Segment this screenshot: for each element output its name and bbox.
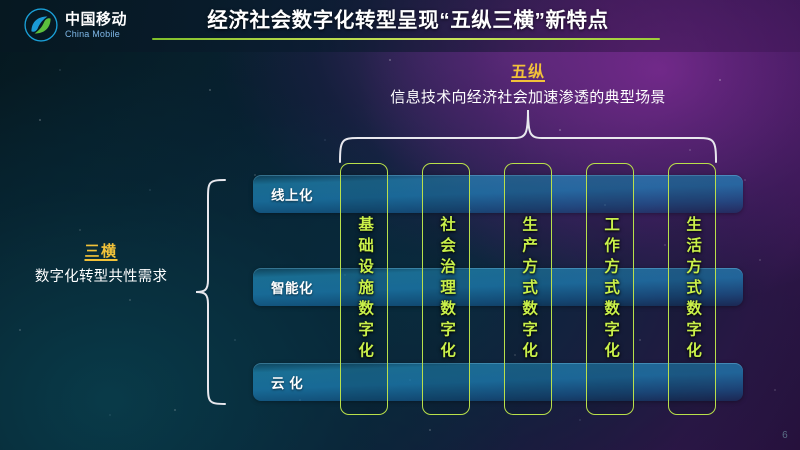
horizontal-axis-subtitle: 数字化转型共性需求 <box>10 265 192 286</box>
vertical-column-2[interactable]: 生产方式数字化 <box>504 163 552 415</box>
slide-canvas: 中国移动 China Mobile 经济社会数字化转型呈现“五纵三横”新特点 五… <box>0 0 800 450</box>
horizontal-bar-label: 云 化 <box>271 372 303 392</box>
china-mobile-logo: 中国移动 China Mobile <box>24 8 127 42</box>
top-curly-brace-icon <box>332 106 724 164</box>
logo-en-name: China Mobile <box>65 30 127 39</box>
page-title: 经济社会数字化转型呈现“五纵三横”新特点 <box>152 7 664 35</box>
page-number: 6 <box>782 430 788 441</box>
vertical-column-4[interactable]: 生活方式数字化 <box>668 163 716 415</box>
vertical-column-1[interactable]: 社会治理数字化 <box>422 163 470 415</box>
china-mobile-swirl-icon <box>24 8 58 42</box>
title-underline-rule <box>152 38 660 41</box>
horizontal-bar-label: 线上化 <box>271 184 313 204</box>
slide-header: 中国移动 China Mobile 经济社会数字化转型呈现“五纵三横”新特点 <box>0 0 800 52</box>
vertical-column-label: 工作方式数字化 <box>602 216 618 363</box>
vertical-axis-label: 五纵 <box>343 58 713 82</box>
horizontal-axis-label-group: 三横 数字化转型共性需求 <box>10 240 192 286</box>
left-curly-brace-icon <box>193 176 227 408</box>
page-title-block: 经济社会数字化转型呈现“五纵三横”新特点 <box>152 7 664 40</box>
vertical-column-label: 社会治理数字化 <box>438 216 454 363</box>
logo-cn-name: 中国移动 <box>65 12 127 27</box>
vertical-column-3[interactable]: 工作方式数字化 <box>586 163 634 415</box>
vertical-column-label: 基础设施数字化 <box>356 216 372 363</box>
vertical-column-label: 生活方式数字化 <box>684 216 700 363</box>
vertical-axis-subtitle: 信息技术向经济社会加速渗透的典型场景 <box>343 86 713 107</box>
vertical-axis-label-group: 五纵 信息技术向经济社会加速渗透的典型场景 <box>343 58 713 107</box>
horizontal-bar-label: 智能化 <box>271 277 313 297</box>
vertical-column-label: 生产方式数字化 <box>520 216 536 363</box>
vertical-column-0[interactable]: 基础设施数字化 <box>340 163 388 415</box>
horizontal-axis-label: 三横 <box>10 240 192 261</box>
